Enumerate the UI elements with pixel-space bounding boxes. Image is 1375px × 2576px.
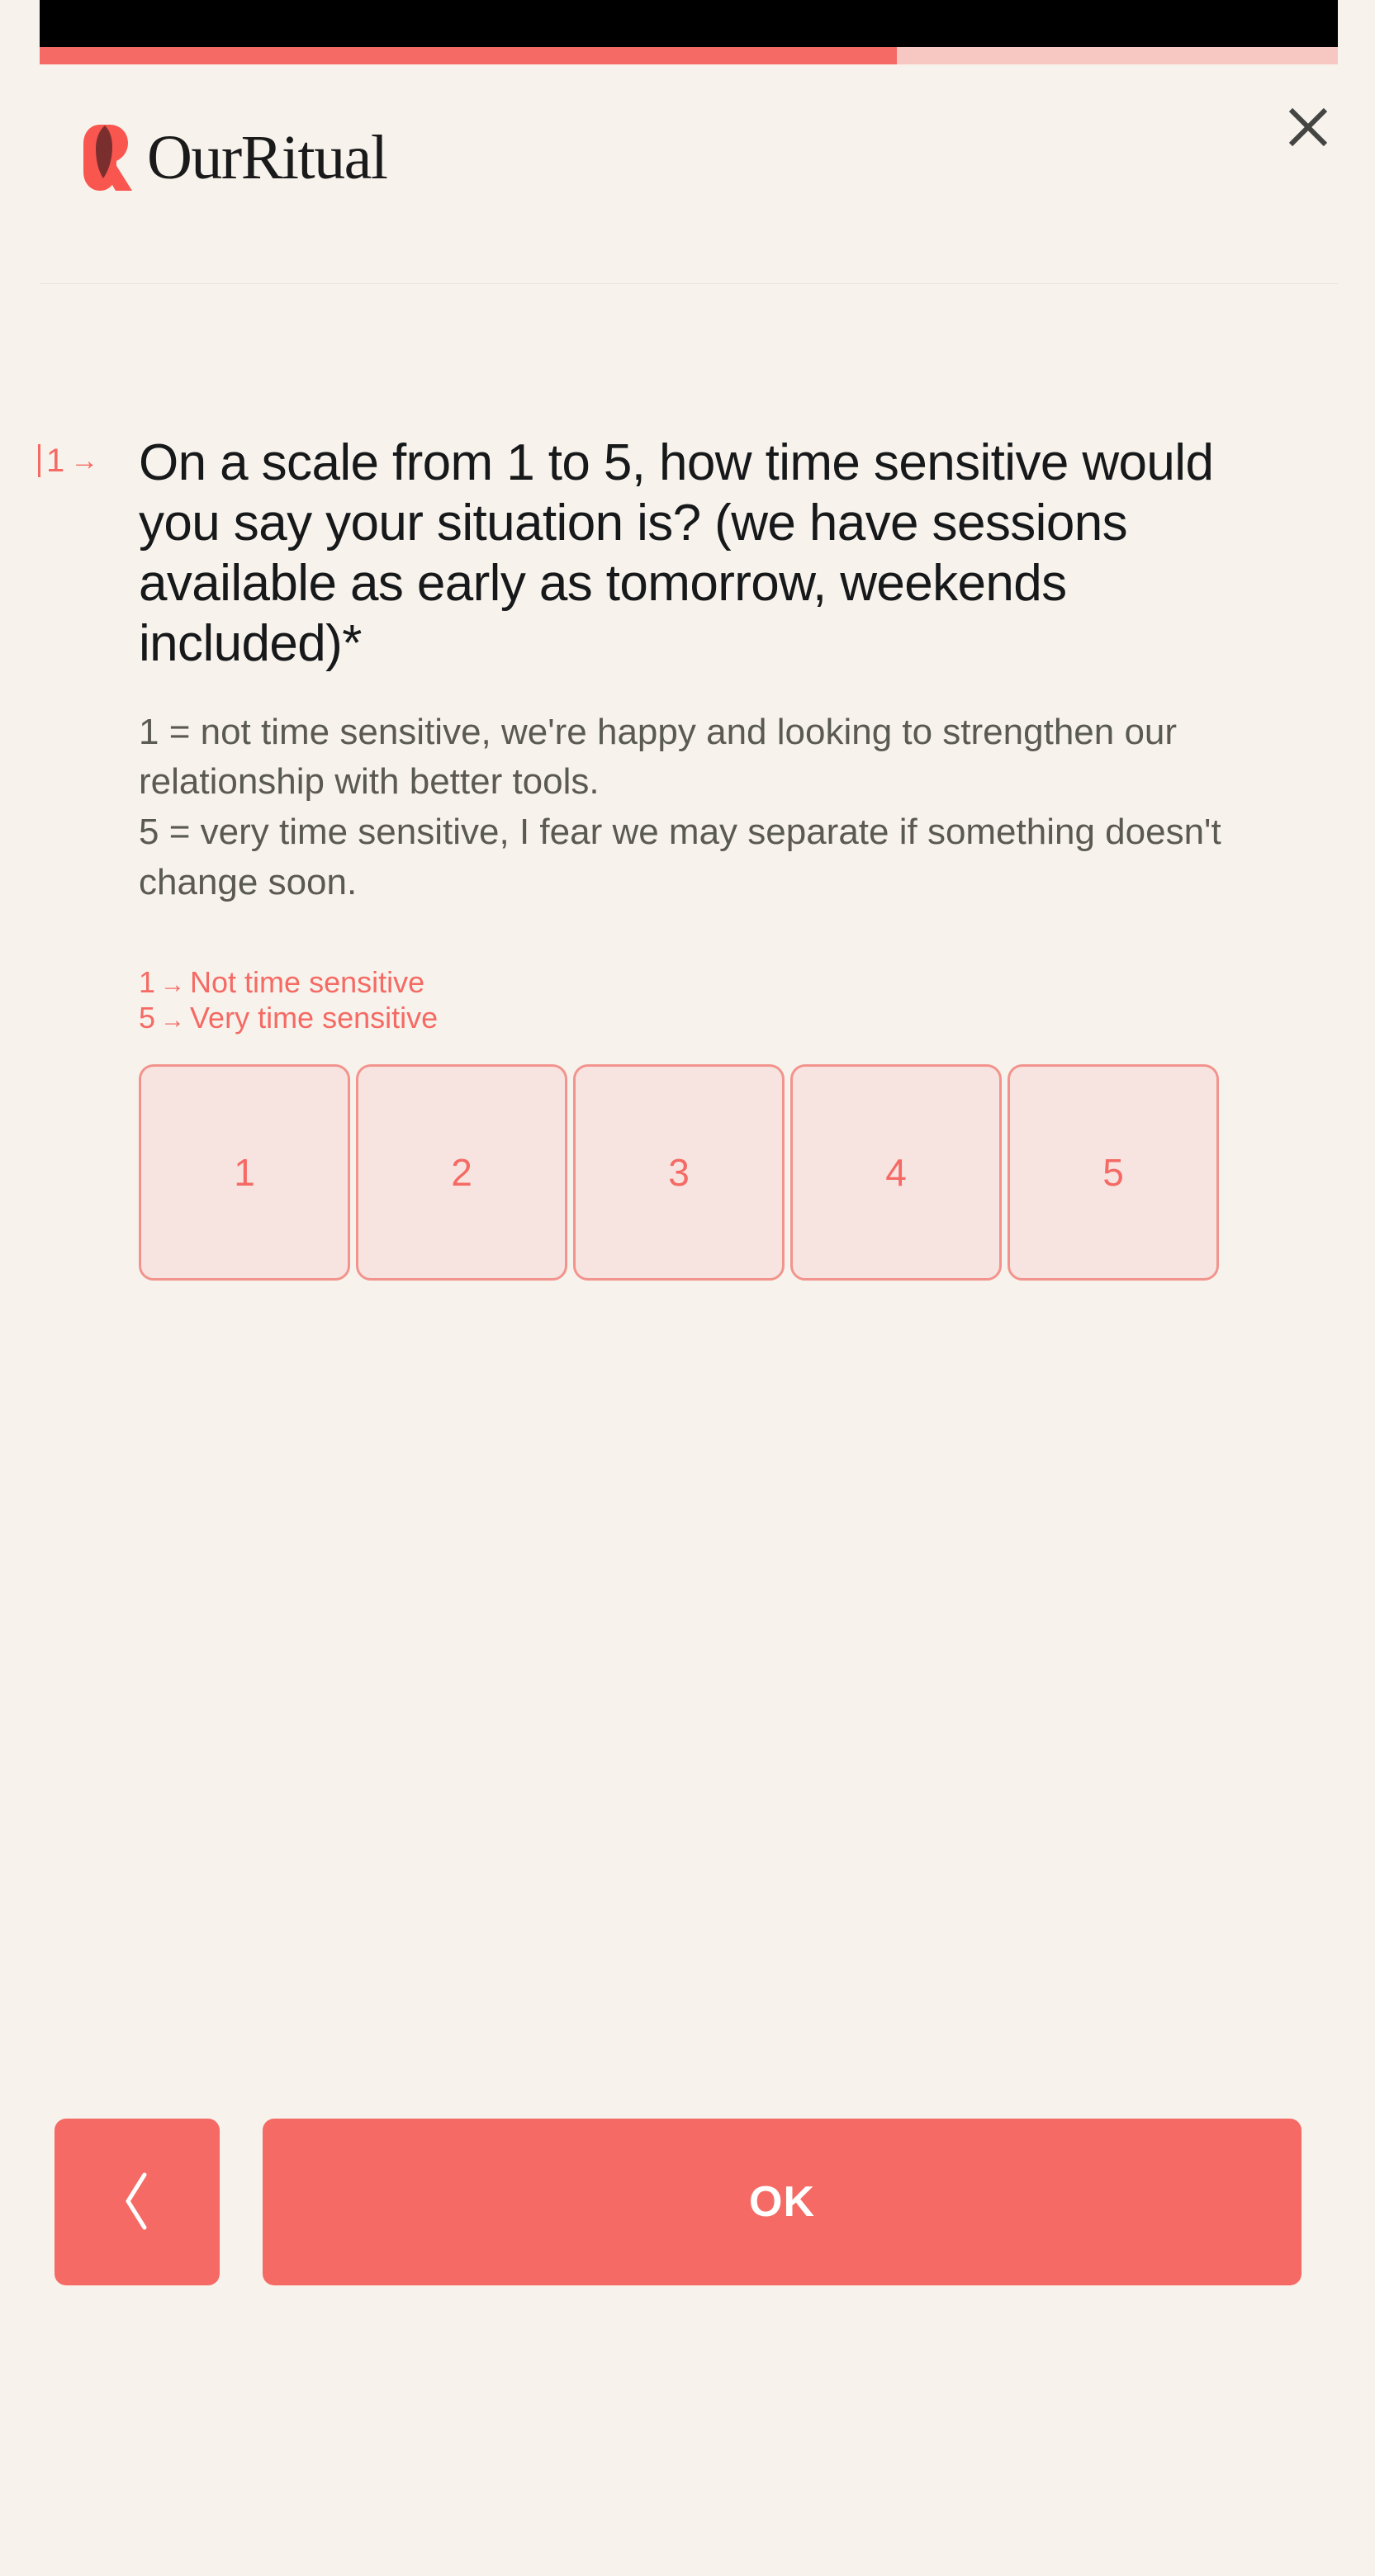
page-header: OurRitual	[0, 64, 1375, 283]
survey-content: 1 → On a scale from 1 to 5, how time sen…	[0, 284, 1375, 1281]
progress-bar-fill	[40, 47, 897, 64]
top-black-bar	[40, 0, 1338, 47]
chevron-left-icon	[121, 2170, 154, 2235]
question-number-marker: 1 →	[38, 444, 98, 477]
rating-scale: 1 2 3 4 5	[0, 1064, 1375, 1281]
rating-option-3[interactable]: 3	[573, 1064, 785, 1281]
arrow-right-icon: →	[160, 1006, 185, 1036]
rating-option-5[interactable]: 5	[1008, 1064, 1219, 1281]
rating-option-2[interactable]: 2	[356, 1064, 567, 1281]
close-button[interactable]	[1278, 99, 1338, 159]
marker-bar-icon	[38, 444, 40, 477]
legend-label-low: Not time sensitive	[190, 964, 424, 1001]
scale-legend: 1 → Not time sensitive 5 → Very time sen…	[0, 964, 1375, 1037]
close-icon	[1286, 105, 1330, 154]
legend-row-high: 5 → Very time sensitive	[139, 1000, 1375, 1036]
legend-row-low: 1 → Not time sensitive	[139, 964, 1375, 1001]
question-number: 1	[46, 444, 64, 477]
footer-actions: OK	[55, 2119, 1302, 2285]
legend-value-low: 1	[139, 964, 155, 1001]
brand-name: OurRitual	[147, 126, 386, 189]
rating-option-4[interactable]: 4	[790, 1064, 1002, 1281]
ok-button[interactable]: OK	[263, 2119, 1302, 2285]
ourritual-logo-mark-icon	[83, 124, 134, 192]
question-description: 1 = not time sensitive, we're happy and …	[0, 708, 1375, 908]
description-line-2: 5 = very time sensitive, I fear we may s…	[139, 807, 1226, 907]
question-block: 1 → On a scale from 1 to 5, how time sen…	[0, 433, 1375, 675]
arrow-right-icon: →	[70, 447, 98, 475]
rating-option-1[interactable]: 1	[139, 1064, 350, 1281]
description-line-1: 1 = not time sensitive, we're happy and …	[139, 708, 1226, 807]
question-title: On a scale from 1 to 5, how time sensiti…	[139, 433, 1226, 675]
brand-logo[interactable]: OurRitual	[83, 124, 386, 192]
legend-label-high: Very time sensitive	[190, 1000, 438, 1036]
arrow-right-icon: →	[160, 970, 185, 1001]
legend-value-high: 5	[139, 1000, 155, 1036]
progress-bar-track	[40, 47, 1338, 64]
back-button[interactable]	[55, 2119, 220, 2285]
